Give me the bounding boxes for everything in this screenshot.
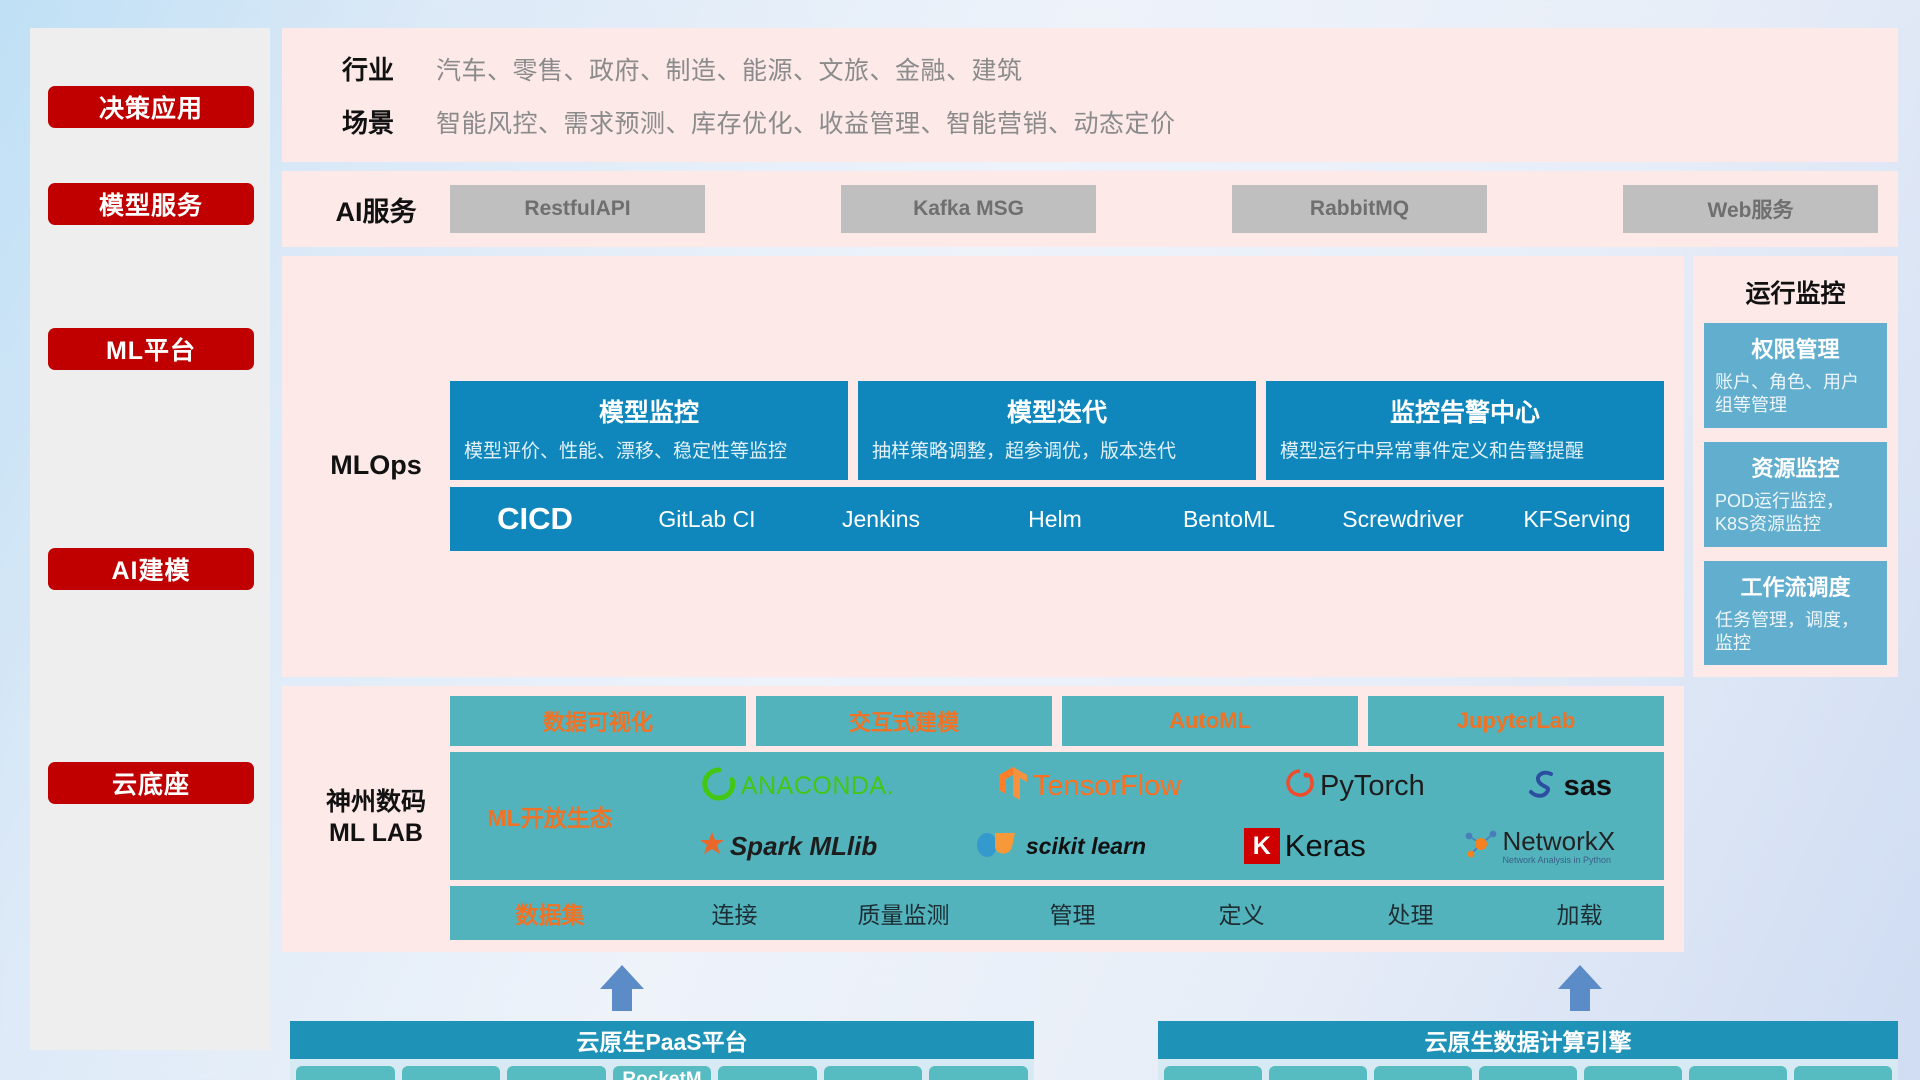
scenario-values: 智能风控、需求预测、库存优化、收益管理、智能营销、动态定价 bbox=[436, 104, 1176, 140]
cloud-paas-chips: Nginx Kong Istio RocketMQ GRPC Kafka ... bbox=[290, 1059, 1034, 1080]
ml-lab-label-line1: 神州数码 bbox=[302, 787, 450, 818]
cicd-item-jenkins[interactable]: Jenkins bbox=[794, 507, 968, 531]
cloud-chip-istio[interactable]: Istio bbox=[507, 1066, 606, 1080]
ml-lab-label-line2: ML LAB bbox=[302, 818, 450, 849]
dataset-item-quality[interactable]: 质量监测 bbox=[819, 896, 988, 930]
rail-chip-model-service[interactable]: 模型服务 bbox=[48, 183, 254, 225]
logo-line-1: ANACONDA. bbox=[650, 757, 1664, 815]
industry-label: 行业 bbox=[308, 50, 436, 87]
cicd-bar: CICD GitLab CI Jenkins Helm BentoML Scre… bbox=[450, 487, 1664, 551]
industry-row: 行业 汽车、零售、政府、制造、能源、文旅、金融、建筑 bbox=[308, 50, 1872, 87]
ml-ecosystem-row: ML开放生态 ANACONDA. bbox=[450, 752, 1664, 880]
cloud-compute-chips: Kafka Spark Presto Flink Hadoop Storm ..… bbox=[1158, 1059, 1898, 1080]
logo-line-2: Spark MLlib bbox=[650, 817, 1664, 875]
ml-lab-body: 数据可视化 交互式建模 AutoML JupyterLab ML开放生态 bbox=[450, 696, 1664, 940]
main-column: 行业 汽车、零售、政府、制造、能源、文旅、金融、建筑 场景 智能风控、需求预测、… bbox=[282, 28, 1898, 1050]
ops-card-desc: POD运行监控，K8S资源监控 bbox=[1715, 490, 1876, 537]
ops-cards: 权限管理 账户、角色、用户组等管理 资源监控 POD运行监控，K8S资源监控 工… bbox=[1704, 323, 1887, 665]
ml-lab-btn-data-visualization[interactable]: 数据可视化 bbox=[450, 696, 746, 746]
tensorflow-label: TensorFlow bbox=[1033, 770, 1181, 803]
compute-chip-presto[interactable]: Presto bbox=[1374, 1066, 1472, 1080]
spark-mllib-logo: Spark MLlib bbox=[699, 831, 877, 862]
cloud-chip-kafka[interactable]: Kafka bbox=[824, 1066, 923, 1080]
ml-lab-label: 神州数码 ML LAB bbox=[302, 787, 450, 850]
networkx-icon bbox=[1463, 828, 1497, 865]
sas-logo: sas bbox=[1529, 768, 1612, 805]
mlops-card-title: 模型迭代 bbox=[872, 393, 1242, 429]
cicd-item-screwdriver[interactable]: Screwdriver bbox=[1316, 507, 1490, 531]
cloud-paas-title: 云原生PaaS平台 bbox=[290, 1021, 1034, 1059]
cicd-item-gitlab-ci[interactable]: GitLab CI bbox=[620, 507, 794, 531]
compute-chip-spark[interactable]: Spark bbox=[1269, 1066, 1367, 1080]
ai-service-buttons: RestfulAPI Kafka MSG RabbitMQ Web服务 bbox=[450, 185, 1878, 233]
dataset-item-manage[interactable]: 管理 bbox=[988, 896, 1157, 930]
compute-chip-flink[interactable]: Flink bbox=[1479, 1066, 1577, 1080]
arrow-up-icon-compute bbox=[1558, 965, 1602, 1011]
dataset-item-load[interactable]: 加载 bbox=[1495, 896, 1664, 930]
cloud-compute-title: 云原生数据计算引擎 bbox=[1158, 1021, 1898, 1059]
ops-card-desc: 任务管理，调度，监控 bbox=[1715, 609, 1876, 656]
tensorflow-logo: TensorFlow bbox=[998, 766, 1181, 807]
ai-service-kafka-msg[interactable]: Kafka MSG bbox=[841, 185, 1096, 233]
sas-icon bbox=[1529, 768, 1559, 805]
ops-card-title: 工作流调度 bbox=[1715, 570, 1876, 602]
networkx-logo: NetworkX Network Analysis in Python bbox=[1463, 828, 1615, 865]
dataset-item-define[interactable]: 定义 bbox=[1157, 896, 1326, 930]
mlops-cards: 模型监控 模型评价、性能、漂移、稳定性等监控 模型迭代 抽样策略调整，超参调优，… bbox=[450, 381, 1664, 480]
tensorflow-icon bbox=[998, 766, 1028, 807]
cloud-chip-rocketmq[interactable]: RocketMQ bbox=[613, 1066, 712, 1080]
mlops-card-title: 监控告警中心 bbox=[1280, 393, 1650, 429]
ai-service-label: AI服务 bbox=[302, 190, 450, 229]
ops-card-permission[interactable]: 权限管理 账户、角色、用户组等管理 bbox=[1704, 323, 1887, 428]
mlops-card-title: 模型监控 bbox=[464, 393, 834, 429]
rail-chip-decision-app[interactable]: 决策应用 bbox=[48, 86, 254, 128]
dataset-row: 数据集 连接 质量监测 管理 定义 处理 加载 bbox=[450, 886, 1664, 940]
ops-card-title: 资源监控 bbox=[1715, 451, 1876, 483]
cloud-chip-grpc[interactable]: GRPC bbox=[718, 1066, 817, 1080]
ml-lab-band: 神州数码 ML LAB 数据可视化 交互式建模 AutoML JupyterLa… bbox=[282, 686, 1898, 952]
ops-monitoring-panel: 运行监控 权限管理 账户、角色、用户组等管理 资源监控 POD运行监控，K8S资… bbox=[1693, 256, 1898, 677]
cicd-items: GitLab CI Jenkins Helm BentoML Screwdriv… bbox=[620, 507, 1664, 531]
dataset-items: 连接 质量监测 管理 定义 处理 加载 bbox=[650, 896, 1664, 930]
industry-scenario-band: 行业 汽车、零售、政府、制造、能源、文旅、金融、建筑 场景 智能风控、需求预测、… bbox=[282, 28, 1898, 162]
ops-card-resource[interactable]: 资源监控 POD运行监控，K8S资源监控 bbox=[1704, 442, 1887, 547]
ml-lab-btn-jupyterlab[interactable]: JupyterLab bbox=[1368, 696, 1664, 746]
ml-ecosystem-logos: ANACONDA. bbox=[650, 757, 1664, 875]
scikit-learn-icon bbox=[975, 829, 1021, 864]
cloud-chip-kong[interactable]: Kong bbox=[402, 1066, 501, 1080]
cicd-item-kfserving[interactable]: KFServing bbox=[1490, 507, 1664, 531]
dataset-label: 数据集 bbox=[450, 896, 650, 930]
spark-mllib-label: Spark MLlib bbox=[730, 831, 877, 862]
mlops-section: MLOps 模型监控 模型评价、性能、漂移、稳定性等监控 模型迭代 抽样策略调整… bbox=[282, 256, 1684, 677]
dataset-item-process[interactable]: 处理 bbox=[1326, 896, 1495, 930]
scenario-row: 场景 智能风控、需求预测、库存优化、收益管理、智能营销、动态定价 bbox=[308, 103, 1872, 140]
mlops-label: MLOps bbox=[302, 450, 450, 481]
keras-icon: K bbox=[1244, 828, 1280, 864]
networkx-sublabel: Network Analysis in Python bbox=[1502, 856, 1615, 865]
cicd-item-bentoml[interactable]: BentoML bbox=[1142, 507, 1316, 531]
ops-card-workflow[interactable]: 工作流调度 任务管理，调度，监控 bbox=[1704, 561, 1887, 666]
mlops-card-model-monitoring[interactable]: 模型监控 模型评价、性能、漂移、稳定性等监控 bbox=[450, 381, 848, 480]
cloud-compute-column: 云原生数据计算引擎 Kafka Spark Presto Flink Hadoo… bbox=[1158, 969, 1898, 1080]
ops-card-title: 权限管理 bbox=[1715, 332, 1876, 364]
ai-service-web[interactable]: Web服务 bbox=[1623, 185, 1878, 233]
compute-chip-hadoop[interactable]: Hadoop bbox=[1584, 1066, 1682, 1080]
compute-chip-kafka[interactable]: Kafka bbox=[1164, 1066, 1262, 1080]
mlops-card-model-iteration[interactable]: 模型迭代 抽样策略调整，超参调优，版本迭代 bbox=[858, 381, 1256, 480]
cloud-chip-more[interactable]: ... bbox=[929, 1066, 1028, 1080]
scikit-learn-logo: scikit learn bbox=[975, 829, 1146, 864]
ai-service-rabbitmq[interactable]: RabbitMQ bbox=[1232, 185, 1487, 233]
mlops-card-desc: 模型评价、性能、漂移、稳定性等监控 bbox=[464, 439, 834, 464]
lab-right-spacer bbox=[1693, 686, 1898, 952]
ml-ecosystem-label: ML开放生态 bbox=[450, 799, 650, 833]
ops-panel-title: 运行监控 bbox=[1704, 266, 1887, 323]
anaconda-icon bbox=[702, 767, 736, 806]
arrow-up-icon-paas bbox=[600, 965, 644, 1011]
layer-rail: 决策应用 模型服务 ML平台 AI建模 云底座 bbox=[30, 28, 270, 1050]
compute-chip-storm[interactable]: Storm bbox=[1689, 1066, 1787, 1080]
ai-service-restfulapi[interactable]: RestfulAPI bbox=[450, 185, 705, 233]
anaconda-logo: ANACONDA. bbox=[702, 767, 894, 806]
cicd-title: CICD bbox=[450, 501, 620, 537]
ai-service-band: AI服务 RestfulAPI Kafka MSG RabbitMQ Web服务 bbox=[282, 171, 1898, 247]
ops-card-desc: 账户、角色、用户组等管理 bbox=[1715, 371, 1876, 418]
pytorch-label: PyTorch bbox=[1320, 770, 1425, 803]
networkx-label: NetworkX bbox=[1502, 828, 1615, 854]
cloud-paas-column: 云原生PaaS平台 Nginx Kong Istio RocketMQ GRPC… bbox=[290, 969, 1034, 1080]
pytorch-icon bbox=[1285, 767, 1315, 806]
rail-chip-cloud-base[interactable]: 云底座 bbox=[48, 762, 254, 804]
keras-logo: K Keras bbox=[1244, 828, 1366, 864]
mlops-card-alert-center[interactable]: 监控告警中心 模型运行中异常事件定义和告警提醒 bbox=[1266, 381, 1664, 480]
keras-label: Keras bbox=[1285, 828, 1366, 864]
anaconda-label: ANACONDA. bbox=[741, 772, 894, 801]
architecture-diagram: 决策应用 模型服务 ML平台 AI建模 云底座 行业 汽车、零售、政府、制造、能… bbox=[0, 0, 1920, 1080]
mlops-card-desc: 抽样策略调整，超参调优，版本迭代 bbox=[872, 439, 1242, 464]
pytorch-logo: PyTorch bbox=[1285, 767, 1425, 806]
cloud-chip-nginx[interactable]: Nginx bbox=[296, 1066, 395, 1080]
spark-star-icon bbox=[699, 831, 725, 862]
cicd-item-helm[interactable]: Helm bbox=[968, 507, 1142, 531]
ml-lab-btn-automl[interactable]: AutoML bbox=[1062, 696, 1358, 746]
scenario-label: 场景 bbox=[308, 103, 436, 140]
rail-chip-ml-platform[interactable]: ML平台 bbox=[48, 328, 254, 370]
sas-label: sas bbox=[1564, 770, 1612, 803]
ml-lab-section: 神州数码 ML LAB 数据可视化 交互式建模 AutoML JupyterLa… bbox=[282, 686, 1684, 952]
mlops-card-desc: 模型运行中异常事件定义和告警提醒 bbox=[1280, 439, 1650, 464]
compute-chip-more[interactable]: ... bbox=[1794, 1066, 1892, 1080]
ml-lab-btn-interactive-modeling[interactable]: 交互式建模 bbox=[756, 696, 1052, 746]
scikit-learn-label: scikit learn bbox=[1026, 833, 1146, 860]
industry-values: 汽车、零售、政府、制造、能源、文旅、金融、建筑 bbox=[436, 51, 1023, 87]
cloud-foundation-band: 云原生PaaS平台 Nginx Kong Istio RocketMQ GRPC… bbox=[282, 969, 1898, 1080]
mlops-band: MLOps 模型监控 模型评价、性能、漂移、稳定性等监控 模型迭代 抽样策略调整… bbox=[282, 256, 1898, 677]
rail-chip-ai-modeling[interactable]: AI建模 bbox=[48, 548, 254, 590]
dataset-item-connect[interactable]: 连接 bbox=[650, 896, 819, 930]
ml-lab-top-buttons: 数据可视化 交互式建模 AutoML JupyterLab bbox=[450, 696, 1664, 746]
mlops-body: 模型监控 模型评价、性能、漂移、稳定性等监控 模型迭代 抽样策略调整，超参调优，… bbox=[450, 381, 1664, 551]
